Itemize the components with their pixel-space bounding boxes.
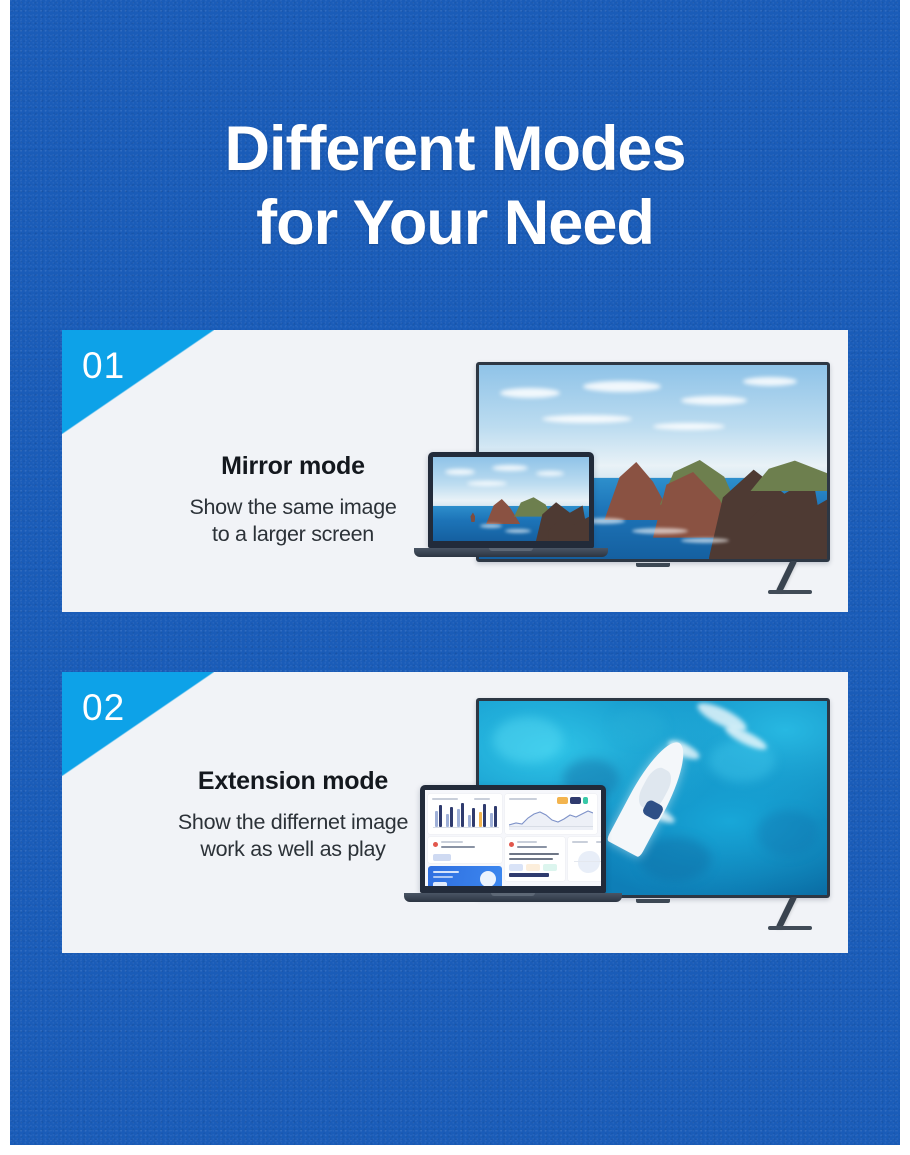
television-foot	[768, 590, 812, 594]
dashboard-alert-card-left	[428, 837, 502, 863]
dashboard-radar-panel	[568, 837, 601, 881]
laptop-lid	[428, 452, 594, 548]
dashboard-promo-banner	[428, 866, 502, 886]
laptop-cliff-ocean-image	[433, 457, 589, 541]
extension-mode-description: Show the differnet image work as well as…	[118, 809, 468, 863]
mode-card-mirror: 01 Mirror mode Show the same image to a …	[62, 330, 848, 612]
card-number-01: 01	[82, 346, 125, 386]
mirror-mode-title: Mirror mode	[118, 452, 468, 481]
page-title: Different Modes for Your Need	[10, 112, 900, 260]
page-title-line-2: for Your Need	[10, 186, 900, 260]
card-number-02: 02	[82, 688, 125, 728]
mirror-mode-description: Show the same image to a larger screen	[118, 494, 468, 548]
television-foot-2	[768, 926, 812, 930]
promo-page: Different Modes for Your Need 01 Mirror …	[0, 0, 910, 1155]
laptop-lid-2	[420, 785, 606, 893]
extension-mode-title: Extension mode	[118, 767, 468, 796]
extension-mode-desc-line-2: work as well as play	[118, 836, 468, 863]
extension-mode-artwork	[428, 672, 848, 953]
extension-mode-desc-line-1: Show the differnet image	[118, 809, 468, 836]
television-logo-bar	[636, 563, 670, 567]
laptop-trackpad-notch-2	[491, 893, 535, 896]
dashboard-line-chart-panel	[505, 794, 597, 834]
laptop-screen-2	[425, 790, 601, 886]
laptop-device	[428, 452, 594, 548]
dashboard-alert-card-center	[505, 837, 565, 881]
laptop-base	[414, 548, 608, 557]
television-leg-2	[776, 897, 798, 927]
television-leg	[776, 561, 798, 591]
laptop-device-2	[420, 785, 606, 893]
mirror-mode-desc-line-2: to a larger screen	[118, 521, 468, 548]
page-title-line-1: Different Modes	[224, 114, 685, 184]
laptop-base-2	[404, 893, 622, 902]
mirror-mode-artwork	[428, 330, 848, 612]
extension-mode-text-block: Extension mode Show the differnet image …	[118, 767, 468, 863]
television-logo-bar-2	[636, 899, 670, 903]
laptop-trackpad-notch	[489, 548, 533, 551]
mirror-mode-text-block: Mirror mode Show the same image to a lar…	[118, 452, 468, 548]
mirror-mode-desc-line-1: Show the same image	[118, 494, 468, 521]
laptop-screen	[433, 457, 589, 541]
dashboard-bar-chart-panel	[428, 794, 502, 834]
mode-card-extension: 02 Extension mode Show the differnet ima…	[62, 672, 848, 953]
dashboard-screen-content	[425, 790, 601, 886]
